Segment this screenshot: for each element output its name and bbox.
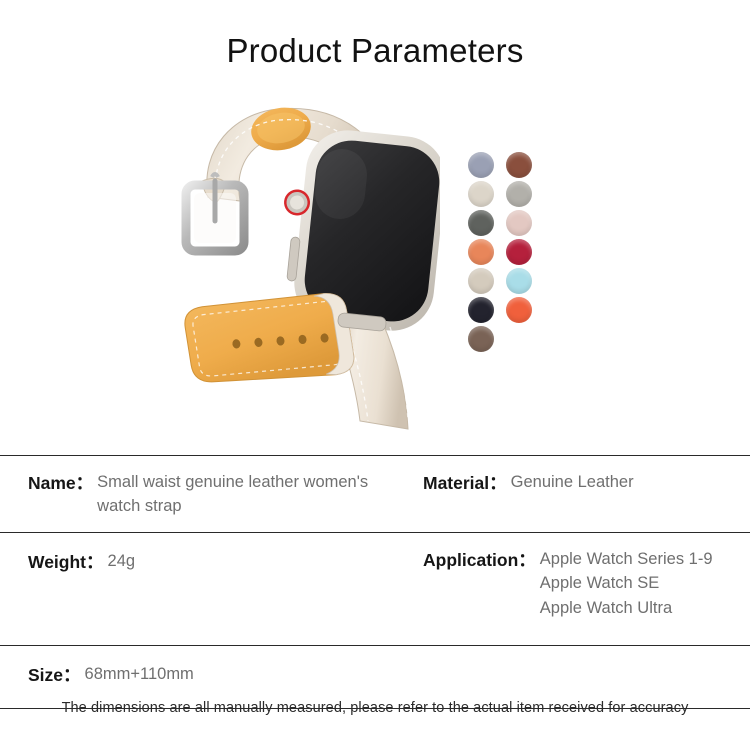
buckle: [186, 174, 244, 251]
footer-disclaimer: The dimensions are all manually measured…: [0, 700, 750, 716]
color-swatch-blush-pink[interactable]: [506, 210, 532, 236]
spec-value-name: Small waist genuine leather women's watc…: [93, 470, 368, 519]
color-swatch-warm-gray[interactable]: [506, 181, 532, 207]
spec-label-material: Material：: [423, 470, 507, 496]
spec-row-name-material: Name： Small waist genuine leather women'…: [0, 456, 750, 533]
spec-cell-name: Name： Small waist genuine leather women'…: [0, 456, 415, 532]
spec-cell-size: Size： 68mm+110mm: [0, 646, 750, 708]
swatch-cell[interactable]: [506, 150, 544, 179]
spec-value-name-line1: Small waist genuine leather women's: [97, 470, 368, 494]
spec-value-application: Apple Watch Series 1-9 Apple Watch SE Ap…: [536, 547, 713, 620]
color-swatch-taupe[interactable]: [468, 326, 494, 352]
spec-cell-material: Material： Genuine Leather: [415, 456, 750, 532]
color-swatch-grid[interactable]: [468, 150, 578, 353]
color-swatch-cream[interactable]: [468, 181, 494, 207]
swatch-cell[interactable]: [468, 179, 506, 208]
color-swatch-crimson[interactable]: [506, 239, 532, 265]
spec-label-name: Name：: [28, 470, 93, 496]
swatch-cell[interactable]: [468, 266, 506, 295]
spec-cell-application: Application： Apple Watch Series 1-9 Appl…: [415, 533, 750, 645]
swatch-cell[interactable]: [506, 179, 544, 208]
swatch-cell[interactable]: [506, 295, 544, 324]
spec-value-name-line2: watch strap: [97, 494, 368, 518]
application-line-2: Apple Watch SE: [540, 571, 713, 595]
product-photo: [150, 77, 440, 437]
color-swatch-beige[interactable]: [468, 268, 494, 294]
swatch-cell[interactable]: [506, 266, 544, 295]
swatch-cell-empty: [506, 324, 544, 353]
swatch-cell[interactable]: [506, 237, 544, 266]
color-swatch-orange[interactable]: [468, 239, 494, 265]
color-swatch-slate-blue[interactable]: [468, 152, 494, 178]
swatch-cell[interactable]: [468, 150, 506, 179]
color-swatch-black-navy[interactable]: [468, 297, 494, 323]
color-swatch-coral[interactable]: [506, 297, 532, 323]
spec-label-weight: Weight：: [28, 549, 104, 575]
page-title: Product Parameters: [0, 0, 750, 69]
swatch-cell[interactable]: [468, 208, 506, 237]
color-swatch-dark-gray[interactable]: [468, 210, 494, 236]
swatch-cell[interactable]: [506, 208, 544, 237]
strap-tail: [182, 285, 356, 397]
spec-value-material: Genuine Leather: [507, 470, 634, 494]
swatch-cell[interactable]: [468, 237, 506, 266]
spec-table: Name： Small waist genuine leather women'…: [0, 455, 750, 709]
spec-cell-weight: Weight： 24g: [0, 533, 415, 645]
application-line-1: Apple Watch Series 1-9: [540, 547, 713, 571]
swatch-cell[interactable]: [468, 324, 506, 353]
spec-label-size: Size：: [28, 662, 81, 688]
spec-value-weight: 24g: [104, 549, 136, 573]
spec-label-application: Application：: [423, 547, 536, 573]
color-swatch-brown[interactable]: [506, 152, 532, 178]
spec-value-size: 68mm+110mm: [81, 662, 194, 686]
spec-row-weight-application: Weight： 24g Application： Apple Watch Ser…: [0, 533, 750, 646]
color-swatch-light-blue[interactable]: [506, 268, 532, 294]
application-line-3: Apple Watch Ultra: [540, 596, 713, 620]
swatch-cell[interactable]: [468, 295, 506, 324]
hero-section: [0, 69, 750, 441]
